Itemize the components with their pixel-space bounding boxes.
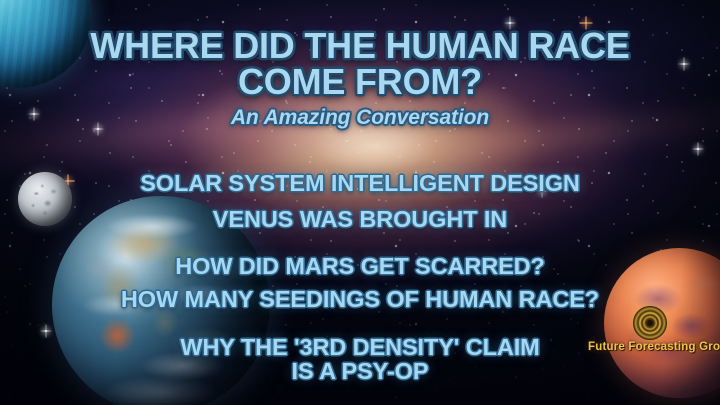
- poster-canvas: WHERE DID THE HUMAN RACE COME FROM? An A…: [0, 0, 720, 405]
- title-line-2: COME FROM?: [0, 64, 720, 100]
- spiral-emblem-icon: [633, 306, 667, 340]
- logo-text: Future Forecasting Group: [588, 341, 712, 353]
- topic-item-3: HOW DID MARS GET SCARRED?: [0, 255, 720, 279]
- subtitle: An Amazing Conversation: [0, 106, 720, 130]
- channel-logo[interactable]: Future Forecasting Group: [588, 306, 712, 364]
- title-line-1: WHERE DID THE HUMAN RACE: [0, 28, 720, 64]
- topic-item-1: SOLAR SYSTEM INTELLIGENT DESIGN: [0, 172, 720, 196]
- topic-item-2: VENUS WAS BROUGHT IN: [0, 208, 720, 232]
